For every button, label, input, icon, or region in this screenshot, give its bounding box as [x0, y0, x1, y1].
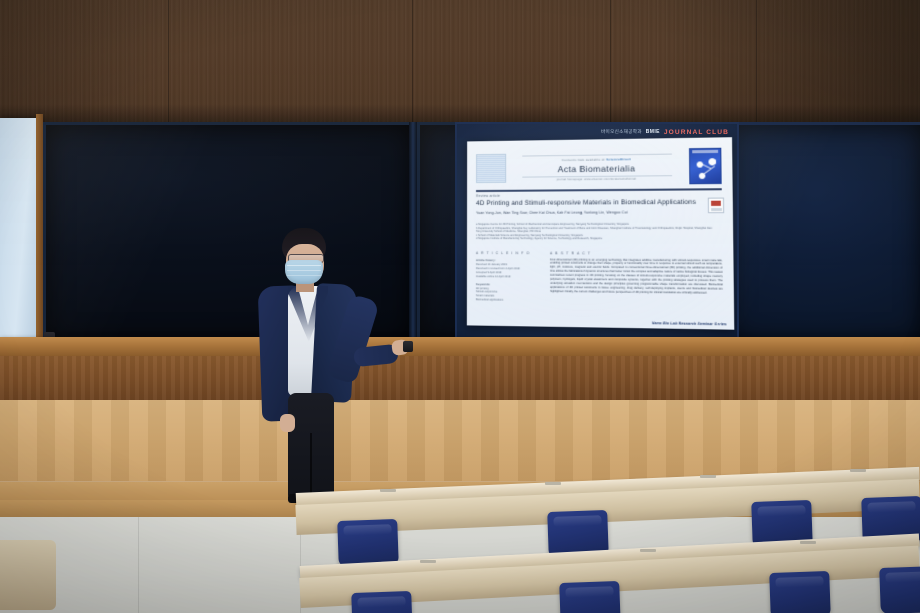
face-mask	[285, 260, 323, 284]
desk-clip	[800, 541, 816, 544]
acta-biomaterialia-cover	[689, 147, 722, 184]
article-page: Contents lists available at ScienceDirec…	[467, 137, 734, 330]
article-kicker: Review article	[476, 194, 500, 198]
presenter	[258, 228, 418, 503]
journal-homepage: journal homepage: www.elsevier.com/locat…	[512, 177, 683, 182]
wall-whiteboard-panel	[0, 118, 41, 350]
keywords-label: Keywords:	[476, 282, 543, 287]
presenter-remote[interactable]	[403, 341, 413, 352]
counter-ledge-face	[0, 356, 920, 406]
chair[interactable]	[769, 571, 831, 613]
whiteboard-frame	[36, 114, 43, 354]
desk-end-left	[0, 540, 56, 610]
left-hand	[280, 414, 295, 432]
article-title: 4D Printing and Stimuli-responsive Mater…	[476, 199, 699, 208]
slide-header-dept: BMIE	[646, 129, 660, 135]
abstract-heading: A B S T R A C T	[550, 251, 722, 256]
slide-credit: Nano Bio Lab Research Seminar Series	[652, 321, 727, 326]
article-history-label: Article history:	[476, 258, 543, 262]
sciencedirect-prefix: Contents lists available at	[562, 157, 605, 162]
abstract-text: Four-dimensional (4D) printing is an eme…	[550, 258, 723, 296]
sciencedirect-link[interactable]: ScienceDirect	[606, 157, 631, 161]
chair[interactable]	[559, 581, 621, 613]
desk-clip	[640, 549, 656, 552]
journal-name: Acta Biomaterialia	[512, 162, 683, 174]
desk-clip	[700, 475, 716, 478]
chair[interactable]	[337, 519, 399, 567]
article-info-heading: A R T I C L E I N F O	[476, 251, 543, 255]
counter-ledge-top	[0, 337, 920, 356]
journal-masthead: Contents lists available at ScienceDirec…	[476, 144, 722, 189]
slide-header-korean: 바이오신소재공학과	[601, 129, 642, 135]
desk-clip	[545, 482, 561, 485]
article-history: Received 14 January 2019 Received in rev…	[476, 263, 543, 279]
desk-clip	[380, 489, 396, 492]
article-affiliations: a Singapore Centre for 3D Printing, Scho…	[476, 223, 716, 241]
desk-clip	[420, 560, 436, 563]
article-authors: Yuan Yong-Jun, Wan Ting Sow, Chee Kai Ch…	[476, 210, 713, 216]
projected-slide[interactable]: 바이오신소재공학과 BMIE JOURNAL CLUB Contents lis…	[455, 122, 739, 340]
chair[interactable]	[879, 566, 920, 613]
right-display[interactable]	[725, 122, 920, 346]
keywords-list: 4D printing Stimuli-responsive Smart mat…	[476, 287, 543, 303]
elsevier-tree-logo	[476, 153, 506, 182]
desk-clip	[850, 469, 866, 472]
chair[interactable]	[351, 591, 413, 613]
lecture-hall-photo: 바이오신소재공학과 BMIE JOURNAL CLUB Contents lis…	[0, 0, 920, 613]
slide-header-title: JOURNAL CLUB	[664, 129, 729, 136]
